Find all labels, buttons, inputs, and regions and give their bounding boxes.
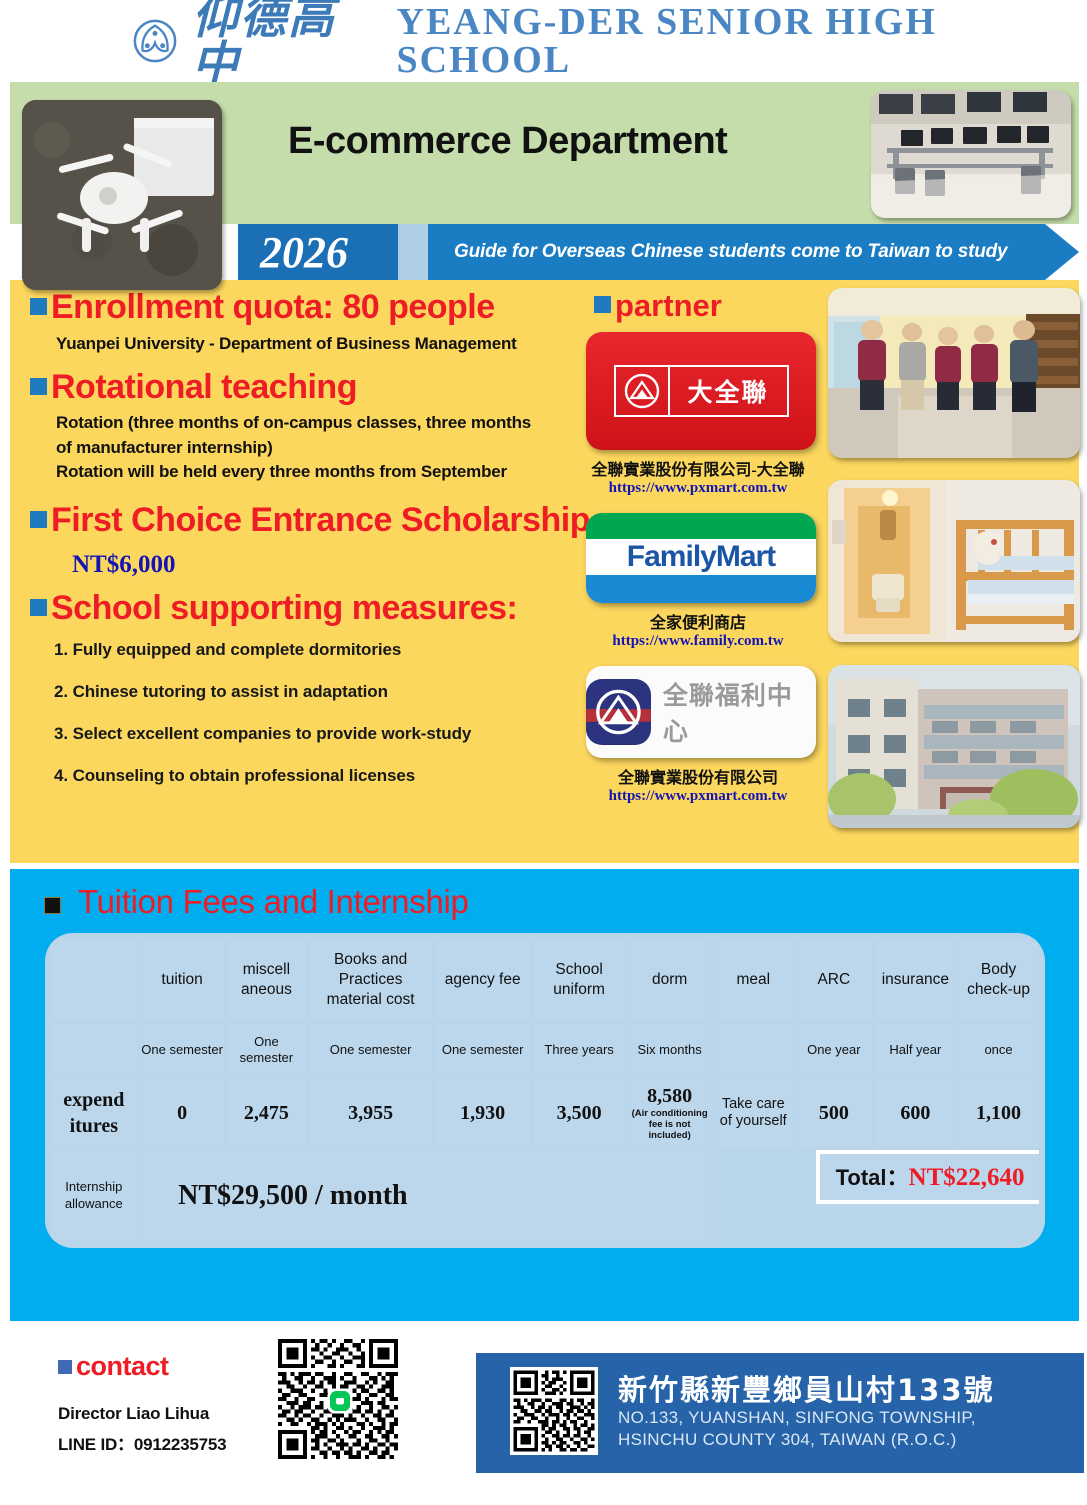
rotation-block: Rotational teaching Rotation (three mont… <box>30 370 590 485</box>
table-expenditures-row: expend itures 0 2,475 3,955 1,930 3,500 … <box>51 1079 1039 1147</box>
address-en-line-1: NO.133, YUANSHAN, SINFONG TOWNSHIP, <box>618 1407 995 1429</box>
col-header-meal: meal <box>714 939 793 1021</box>
poster-root: 仰德高中 YEANG-DER SENIOR HIGH SCHOOL <box>0 0 1087 1505</box>
rotation-line-1: Rotation (three months of on-campus clas… <box>30 411 590 436</box>
expenditure-arc: 500 <box>796 1079 873 1147</box>
tuition-section: Tuition Fees and Internship tuition misc… <box>10 869 1079 1321</box>
expenditure-insurance: 600 <box>875 1079 956 1147</box>
duration-tuition: One semester <box>140 1024 224 1076</box>
col-header-arc: ARC <box>796 939 873 1021</box>
info-left-column: Enrollment quota: 80 people Yuanpei Univ… <box>30 290 590 808</box>
expenditure-books: 3,955 <box>309 1079 433 1147</box>
tuition-heading: Tuition Fees and Internship <box>10 883 1079 921</box>
school-emblem-icon <box>132 18 178 64</box>
page-footer: contact Director Liao Lihua LINE ID：0912… <box>10 1329 1079 1487</box>
line-qr-code[interactable] <box>278 1339 398 1464</box>
duration-dorm: Six months <box>628 1024 711 1076</box>
expenditure-agency-fee: 1,930 <box>435 1079 529 1147</box>
fees-table: tuition miscell aneous Books and Practic… <box>48 936 1042 1245</box>
rotation-heading: Rotational teaching <box>30 370 590 406</box>
expenditure-dorm: 8,580 (Air conditioning fee is not inclu… <box>628 1079 711 1147</box>
measure-item: 2. Chinese tutoring to assist in adaptat… <box>54 682 590 702</box>
bullet-square-icon <box>30 298 47 315</box>
duration-books: One semester <box>309 1024 433 1076</box>
school-name-cn: 仰德高中 <box>192 0 375 87</box>
expenditure-dorm-note: (Air conditioning fee is not included) <box>629 1108 710 1142</box>
partner-logo-familymart[interactable]: FamilyMart <box>586 513 816 603</box>
col-header-insurance: insurance <box>875 939 956 1021</box>
partner-column: partner 大全聯 全聯實業股份有限公司-大全聯 https://www.p… <box>580 288 820 805</box>
address-qr-code[interactable] <box>510 1367 598 1460</box>
corner-cell <box>51 939 138 1021</box>
total-cell: Total：NT$22,640 <box>714 1150 1039 1242</box>
address-cn: 新竹縣新豐鄉員山村133號 <box>618 1375 995 1407</box>
bullet-square-icon <box>30 599 47 616</box>
col-header-tuition: tuition <box>140 939 224 1021</box>
expenditure-miscellaneous: 2,475 <box>227 1079 306 1147</box>
enrollment-block: Enrollment quota: 80 people Yuanpei Univ… <box>30 290 590 356</box>
info-yellow-section: Enrollment quota: 80 people Yuanpei Univ… <box>10 280 1079 863</box>
duration-insurance: Half year <box>875 1024 956 1076</box>
contact-heading: contact <box>58 1351 226 1382</box>
col-header-body-checkup: Body check-up <box>959 939 1039 1021</box>
measure-item: 4. Counseling to obtain professional lic… <box>54 766 590 786</box>
total-box: Total：NT$22,640 <box>816 1150 1039 1204</box>
scholarship-heading: First Choice Entrance Scholarship <box>30 503 590 539</box>
table-internship-row: Internship allowance NT$29,500 / month T… <box>51 1150 1039 1242</box>
guide-banner: Guide for Overseas Chinese students come… <box>428 224 1079 280</box>
familymart-blue-stripe <box>586 575 816 603</box>
rotation-line-3: Rotation will be held every three months… <box>30 460 590 485</box>
expenditure-school-uniform: 3,500 <box>533 1079 625 1147</box>
expenditure-tuition: 0 <box>140 1079 224 1147</box>
convenience-store-staff-photo <box>828 288 1080 458</box>
black-square-icon <box>44 897 61 914</box>
expenditure-body-checkup: 1,100 <box>959 1079 1039 1147</box>
table-duration-row: One semester One semester One semester O… <box>51 1024 1039 1076</box>
col-header-miscellaneous: miscell aneous <box>227 939 306 1021</box>
guide-text: Guide for Overseas Chinese students come… <box>454 241 1007 263</box>
address-text-group: 新竹縣新豐鄉員山村133號 NO.133, YUANSHAN, SINFONG … <box>618 1375 995 1451</box>
scholarship-amount: NT$6,000 <box>30 551 590 579</box>
partner-name-cn: 全聯實業股份有限公司 <box>580 764 816 788</box>
measures-list: 1. Fully equipped and complete dormitori… <box>30 640 590 786</box>
page-header: 仰德高中 YEANG-DER SENIOR HIGH SCHOOL <box>0 0 1087 82</box>
address-banner: 新竹縣新豐鄉員山村133號 NO.133, YUANSHAN, SINFONG … <box>476 1353 1084 1473</box>
duration-arc: One year <box>796 1024 873 1076</box>
school-building-photo <box>828 665 1080 828</box>
fees-table-wrapper: tuition miscell aneous Books and Practic… <box>45 933 1045 1248</box>
computer-lab-photo <box>871 90 1071 218</box>
expenditure-dorm-value: 8,580 <box>647 1085 692 1107</box>
partner-logo-text: 大全聯 <box>670 373 787 409</box>
familymart-green-stripe <box>586 513 816 539</box>
line-id: LINE ID：0912235753 <box>58 1430 226 1455</box>
duration-miscellaneous: One semester <box>227 1024 306 1076</box>
rotation-line-2: of manufacturer internship) <box>30 436 590 461</box>
measures-heading: School supporting measures: <box>30 591 590 627</box>
enrollment-subtext: Yuanpei University - Department of Busin… <box>30 332 590 357</box>
px-triangle-icon <box>616 365 670 417</box>
partner-logo-text: FamilyMart <box>586 539 816 575</box>
total-label: Total： <box>836 1165 909 1190</box>
measures-block: School supporting measures: 1. Fully equ… <box>30 591 590 787</box>
table-header-row: tuition miscell aneous Books and Practic… <box>51 939 1039 1021</box>
internship-allowance-value: NT$29,500 / month <box>140 1150 711 1242</box>
duration-agency-fee: One semester <box>435 1024 529 1076</box>
expenditure-meal: Take care of yourself <box>714 1079 793 1147</box>
partner-logo-text: 全聯福利中心 <box>663 676 816 748</box>
duration-body-checkup: once <box>959 1024 1039 1076</box>
drone-photo <box>22 100 222 290</box>
measure-item: 1. Fully equipped and complete dormitori… <box>54 640 590 660</box>
address-en-line-2: HSINCHU COUNTY 304, TAIWAN (R.O.C.) <box>618 1429 995 1451</box>
partner-url[interactable]: https://www.pxmart.com.tw <box>580 788 816 805</box>
expenditures-row-label: expend itures <box>51 1079 138 1147</box>
scholarship-block: First Choice Entrance Scholarship NT$6,0… <box>30 503 590 579</box>
hero-green-band: E-commerce Department <box>10 82 1079 224</box>
partner-logo-pxmart-daquanlian[interactable]: 大全聯 <box>586 332 816 450</box>
duration-school-uniform: Three years <box>533 1024 625 1076</box>
dormitory-photo <box>828 480 1080 642</box>
duration-row-label <box>51 1024 138 1076</box>
bullet-square-icon <box>30 511 47 528</box>
partner-logo-px-welfare-center[interactable]: 全聯福利中心 <box>586 666 816 758</box>
partner-name-cn: 全聯實業股份有限公司-大全聯 <box>580 456 816 480</box>
director-name: Director Liao Lihua <box>58 1404 226 1424</box>
enrollment-heading: Enrollment quota: 80 people <box>30 290 590 326</box>
bullet-square-icon <box>30 378 47 395</box>
bullet-square-icon <box>58 1360 72 1374</box>
col-header-school-uniform: School uniform <box>533 939 625 1021</box>
internship-row-label: Internship allowance <box>51 1150 138 1242</box>
col-header-dorm: dorm <box>628 939 711 1021</box>
partner-name-cn: 全家便利商店 <box>580 609 816 633</box>
school-name-en: YEANG-DER SENIOR HIGH SCHOOL <box>397 3 1087 79</box>
col-header-agency-fee: agency fee <box>435 939 529 1021</box>
contact-block: contact Director Liao Lihua LINE ID：0912… <box>58 1351 226 1455</box>
col-header-books: Books and Practices material cost <box>309 939 433 1021</box>
measure-item: 3. Select excellent companies to provide… <box>54 724 590 744</box>
duration-meal <box>714 1024 793 1076</box>
bullet-square-icon <box>594 296 611 313</box>
partner-url[interactable]: https://www.pxmart.com.tw <box>580 480 816 497</box>
partner-heading: partner <box>580 288 820 324</box>
total-value: NT$22,640 <box>909 1164 1025 1191</box>
px-welfare-icon <box>586 679 651 745</box>
department-title: E-commerce Department <box>288 120 727 163</box>
partner-url[interactable]: https://www.family.com.tw <box>580 633 816 650</box>
